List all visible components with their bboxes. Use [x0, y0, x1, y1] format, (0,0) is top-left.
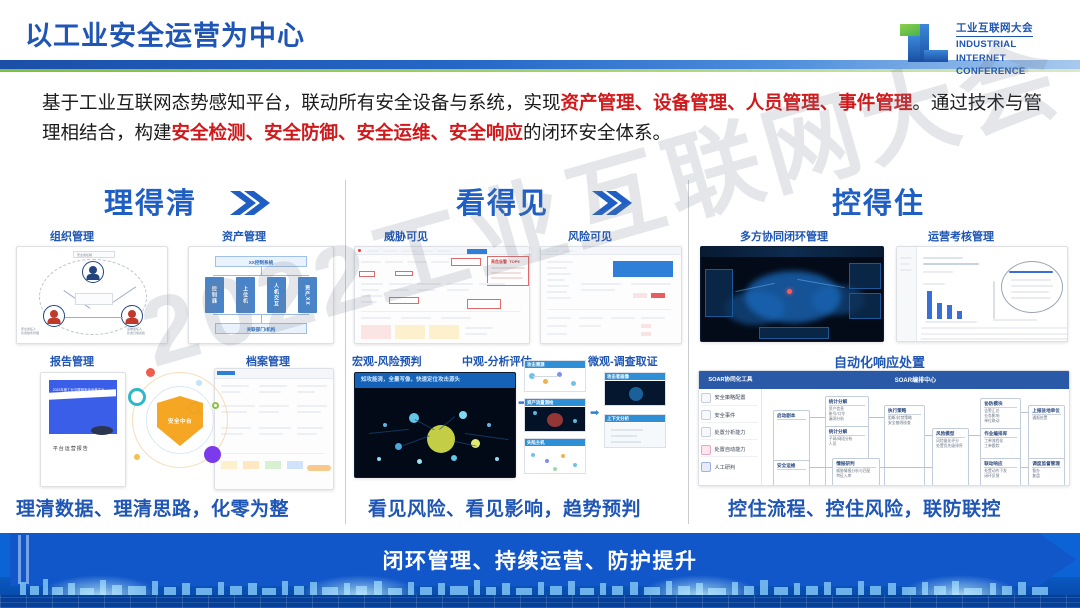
label-kpi-management: 运营考核管理 — [928, 228, 994, 244]
micro-panel-1[interactable]: 攻击者画像 — [604, 372, 666, 406]
teal-ring-icon — [128, 388, 146, 406]
paragraph-segment-3: 的闭环安全体系。 — [523, 122, 671, 143]
yellow-dot-icon — [134, 454, 140, 460]
column-divider-1 — [345, 180, 346, 510]
security-hub-badge: 安全中台 — [126, 362, 234, 480]
soar-left-header: SOAR协同化工具 — [699, 371, 762, 389]
column-1-title: 理得清 — [104, 180, 197, 222]
asset-top-box: XX控制系统 — [215, 256, 307, 267]
column-control: 控得住 多方协同闭环管理 运营考核管理 — [694, 176, 1074, 532]
column-organize: 理得清 组织管理 资产管理 安全责任人负责统筹管理 运维责任人负责日 — [6, 176, 342, 532]
risk-dashboard-panel[interactable] — [540, 246, 682, 344]
three-column-area: 理得清 组织管理 资产管理 安全责任人负责统筹管理 运维责任人负责日 — [0, 176, 1080, 532]
banner-text: 闭环管理、持续运营、防护提升 — [0, 545, 1080, 575]
soar-menu-item[interactable]: 安全事件 — [701, 408, 758, 422]
soar-node[interactable]: 安全运维 — [773, 460, 810, 486]
label-meso-analysis: 中观-分析评估 — [462, 353, 532, 369]
caption-divider-1 — [345, 492, 346, 524]
light-dot-icon — [196, 380, 202, 386]
label-collaborative-management: 多方协同闭环管理 — [740, 228, 828, 244]
logo-en-line3: CONFERENCE — [956, 66, 1033, 78]
skyline-silhouette — [0, 577, 1080, 595]
org-chart-panel[interactable]: 安全责任人负责统筹管理 运维责任人负责日常巡检 安全责任制 — [16, 246, 168, 344]
ops-center-map — [701, 247, 883, 341]
label-asset-management: 资产管理 — [222, 228, 266, 244]
column-visibility: 看得见 威胁可见 风险可见 — [352, 176, 684, 532]
caption-control: 控住流程、控住风险，联防联控 — [728, 494, 1001, 521]
soar-flow-diagram: SOAR协同化工具 SOAR编排中心 安全策略配置 安全事件 处置分析能力 处置… — [699, 371, 1069, 485]
label-org-management: 组织管理 — [50, 228, 94, 244]
logo-en-line1: INDUSTRIAL — [956, 39, 1033, 51]
paragraph-segment-1: 基于工业互联网态势感知平台，联动所有安全设备与系统，实现 — [42, 92, 561, 113]
label-archive-management: 档案管理 — [246, 353, 290, 369]
intro-paragraph: 基于工业互联网态势感知平台，联动所有安全设备与系统，实现资产管理、设备管理、人员… — [42, 88, 1042, 148]
soar-menu-item[interactable]: 处置自动能力 — [701, 443, 758, 457]
asset-box: 上位机 — [236, 277, 255, 313]
banner-grid-floor — [0, 595, 1080, 608]
asset-hierarchy-panel[interactable]: XX控制系统 控制器 上位机 人机交互 资产XX 关联部门/机构 — [188, 246, 334, 344]
soar-node[interactable]: 联动响应 处置动作下发 闭环反馈 — [980, 458, 1021, 486]
logo-en-line2: INTERNET — [956, 53, 1033, 65]
asset-box: 人机交互 — [267, 277, 286, 313]
threat-dashboard-panel[interactable]: 高危告警 TOP5 — [354, 246, 530, 344]
threat-dashboard: 高危告警 TOP5 — [355, 247, 529, 343]
conference-logo-text: 工业互联网大会 INDUSTRIAL INTERNET CONFERENCE — [956, 18, 1033, 78]
slide-header: 以工业安全运营为中心 工业互联网大会 INDUST — [0, 0, 1080, 86]
policy-icon — [701, 393, 711, 403]
report-cover-title: 平台运营报告 — [53, 445, 89, 452]
shield-label: 安全中台 — [168, 417, 192, 425]
network-graph: 知攻能清，全量写像，快速定位攻击源头 — [355, 373, 515, 477]
label-micro-forensics: 微观-调查取证 — [588, 353, 658, 369]
report-cover: 2022年度工业互联网安全运营平台 平台运营报告 — [41, 373, 125, 486]
soar-node[interactable]: 情报研判 威胁情报分析与匹配 特征入库 — [832, 458, 880, 486]
label-macro-risk: 宏观-风险预判 — [352, 353, 422, 369]
soar-node[interactable]: 执行策略 阻断/封禁策略 安全基线核查 — [884, 405, 925, 486]
asset-bottom-box: 关联部门/机构 — [215, 323, 307, 334]
soar-menu-item[interactable]: 安全策略配置 — [701, 391, 758, 405]
soar-node[interactable]: 调度监督管理 督办 复盘 — [1028, 458, 1065, 486]
soar-right-header: SOAR编排中心 — [762, 371, 1069, 389]
chevron-right-icon — [590, 188, 632, 218]
summary-captions: 理清数据、理清思路，化零为整 看见风险、看见影响，趋势预判 控住流程、控住风险，… — [0, 494, 1080, 530]
logo-cn-label: 工业互联网大会 — [956, 20, 1033, 37]
report-cover-panel[interactable]: 2022年度工业互联网安全运营平台 平台运营报告 — [40, 372, 126, 487]
arrow-right-icon: ➡ — [590, 408, 599, 419]
page-title: 以工业安全运营为中心 — [25, 14, 305, 53]
chevron-right-icon — [228, 188, 270, 218]
bottom-banner: 闭环管理、持续运营、防护提升 — [0, 533, 1080, 608]
soar-node[interactable]: 风险模型 风险量化评分 处置优先级排序 — [932, 428, 969, 486]
network-header-text: 知攻能清，全量写像，快速定位攻击源头 — [355, 373, 515, 383]
auto-icon — [701, 445, 711, 455]
soar-menu: 安全策略配置 安全事件 处置分析能力 处置自动能力 人工研判 — [699, 389, 762, 485]
caption-organize: 理清数据、理清思路，化零为整 — [16, 494, 289, 521]
asset-box-row: 控制器 上位机 人机交互 资产XX — [205, 277, 317, 313]
red-dot-icon — [146, 368, 155, 377]
micro-panel-2[interactable]: 上下文分析 — [604, 414, 666, 448]
soar-flow-panel[interactable]: SOAR协同化工具 SOAR编排中心 安全策略配置 安全事件 处置分析能力 处置… — [698, 370, 1070, 486]
soar-menu-item[interactable]: 人工研判 — [701, 460, 758, 474]
event-icon — [701, 410, 711, 420]
label-risk-visible: 风险可见 — [568, 228, 612, 244]
conference-logo-icon — [898, 20, 950, 70]
label-threat-visible: 威胁可见 — [384, 228, 428, 244]
meso-panel-3[interactable]: 失陷主机 — [524, 438, 586, 474]
meso-panel-1[interactable]: 攻击溯源 — [524, 360, 586, 392]
ops-center-panel[interactable] — [700, 246, 884, 342]
caption-visibility: 看见风险、看见影响，趋势预判 — [368, 494, 641, 521]
kpi-report-panel[interactable] — [896, 246, 1068, 342]
column-divider-2 — [688, 180, 689, 510]
risk-dashboard — [541, 247, 681, 343]
conference-logo: 工业互联网大会 INDUSTRIAL INTERNET CONFERENCE — [898, 18, 1058, 74]
column-3-title: 控得住 — [832, 180, 925, 222]
people-icon — [701, 462, 711, 472]
meso-panel-2[interactable]: 资产流量测绘 — [524, 398, 586, 432]
label-report-management: 报告管理 — [50, 353, 94, 369]
label-automated-response: 自动化响应处置 — [834, 352, 925, 371]
analysis-icon — [701, 427, 711, 437]
column-2-title: 看得见 — [456, 180, 549, 222]
macro-network-panel[interactable]: 知攻能清，全量写像，快速定位攻击源头 — [354, 372, 516, 478]
paragraph-highlight-1: 资产管理、设备管理、人员管理、事件管理 — [561, 92, 913, 113]
asset-hierarchy-diagram: XX控制系统 控制器 上位机 人机交互 资产XX 关联部门/机构 — [189, 247, 333, 343]
asset-box: 控制器 — [205, 277, 224, 313]
kpi-report — [897, 247, 1067, 341]
purple-dot-icon — [204, 446, 221, 463]
asset-box: 资产XX — [298, 277, 317, 313]
soar-menu-item[interactable]: 处置分析能力 — [701, 426, 758, 440]
org-chart-diagram: 安全责任人负责统筹管理 运维责任人负责日常巡检 安全责任制 — [17, 247, 167, 343]
green-ring-icon — [212, 402, 219, 409]
paragraph-highlight-2: 安全检测、安全防御、安全运维、安全响应 — [172, 122, 524, 143]
caption-divider-2 — [688, 492, 689, 524]
